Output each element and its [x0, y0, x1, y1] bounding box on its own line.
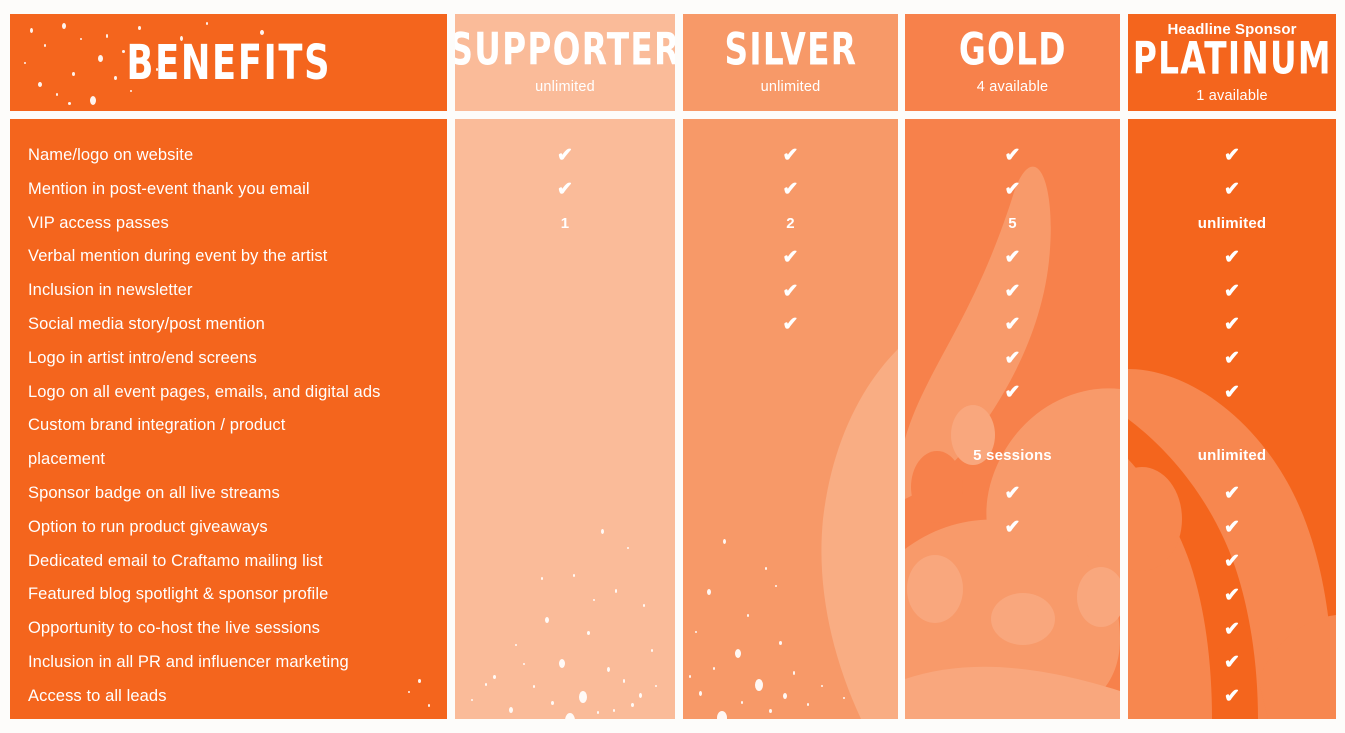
- value-gold-5: ✔: [905, 274, 1120, 308]
- check-icon: ✔: [782, 146, 798, 165]
- value-gold-3: 5: [905, 207, 1120, 241]
- check-icon: ✔: [1004, 146, 1020, 165]
- value-platinum-10: ✔: [1128, 477, 1336, 511]
- value-silver-3: 2: [683, 207, 898, 241]
- value-supporter-15: [455, 646, 675, 680]
- tier-availability-supporter: unlimited: [535, 79, 595, 95]
- sponsorship-tier-table: BENEFITS SUPPORTER unlimited SILVER unli…: [0, 0, 1345, 733]
- value-silver-1: ✔: [683, 139, 898, 173]
- value-gold-11: ✔: [905, 511, 1120, 545]
- value-platinum-14: ✔: [1128, 612, 1336, 646]
- value-platinum-3: unlimited: [1128, 207, 1336, 241]
- check-icon: ✔: [1004, 282, 1020, 301]
- value-silver-4: ✔: [683, 240, 898, 274]
- value-supporter-8: [455, 376, 675, 410]
- tier-name-platinum: PLATINUM: [1133, 37, 1332, 82]
- benefit-row-2: Mention in post-event thank you email: [28, 173, 447, 207]
- check-icon: ✔: [1224, 620, 1240, 639]
- value-platinum-8: ✔: [1128, 376, 1336, 410]
- benefit-row-6: Social media story/post mention: [28, 308, 447, 342]
- benefit-row-7: Logo in artist intro/end screens: [28, 342, 447, 376]
- check-icon: ✔: [1224, 552, 1240, 571]
- value-platinum-4: ✔: [1128, 240, 1336, 274]
- tier-column-platinum: ✔ ✔ unlimited ✔ ✔ ✔ ✔ ✔ unlimited ✔ ✔ ✔ …: [1128, 119, 1336, 719]
- value-platinum-5: ✔: [1128, 274, 1336, 308]
- benefit-row-9: Custom brand integration / product place…: [28, 409, 358, 477]
- check-icon: ✔: [1004, 518, 1020, 537]
- benefit-row-5: Inclusion in newsletter: [28, 274, 447, 308]
- value-platinum-1: ✔: [1128, 139, 1336, 173]
- value-gold-2: ✔: [905, 173, 1120, 207]
- value-platinum-16: ✔: [1128, 680, 1336, 714]
- value-supporter-2: ✔: [455, 173, 675, 207]
- value-platinum-12: ✔: [1128, 545, 1336, 579]
- value-supporter-13: [455, 578, 675, 612]
- value-gold-14: [905, 612, 1120, 646]
- check-icon: ✔: [1004, 248, 1020, 267]
- benefit-row-8: Logo on all event pages, emails, and dig…: [28, 376, 447, 410]
- tier-column-silver: ✔ ✔ 2 ✔ ✔ ✔: [683, 119, 898, 719]
- check-icon: ✔: [557, 180, 573, 199]
- check-icon: ✔: [1224, 383, 1240, 402]
- value-supporter-14: [455, 612, 675, 646]
- value-gold-4: ✔: [905, 240, 1120, 274]
- value-platinum-6: ✔: [1128, 308, 1336, 342]
- value-platinum-13: ✔: [1128, 578, 1336, 612]
- value-silver-6: ✔: [683, 308, 898, 342]
- value-supporter-11: [455, 511, 675, 545]
- value-gold-1: ✔: [905, 139, 1120, 173]
- value-silver-8: [683, 376, 898, 410]
- value-gold-13: [905, 578, 1120, 612]
- value-gold-10: ✔: [905, 477, 1120, 511]
- check-icon: ✔: [1224, 484, 1240, 503]
- check-icon: ✔: [557, 146, 573, 165]
- check-icon: ✔: [782, 180, 798, 199]
- benefits-header-panel: BENEFITS: [10, 14, 447, 111]
- tier-name-silver: SILVER: [724, 28, 857, 73]
- tier-header-silver[interactable]: SILVER unlimited: [683, 14, 898, 111]
- benefit-row-10: Sponsor badge on all live streams: [28, 477, 447, 511]
- check-icon: ✔: [1224, 687, 1240, 706]
- value-gold-7: ✔: [905, 342, 1120, 376]
- values-silver: ✔ ✔ 2 ✔ ✔ ✔: [683, 119, 898, 719]
- benefit-row-3: VIP access passes: [28, 207, 447, 241]
- value-platinum-15: ✔: [1128, 646, 1336, 680]
- benefit-row-14: Opportunity to co-host the live sessions: [28, 612, 447, 646]
- check-icon: ✔: [1224, 315, 1240, 334]
- tier-header-platinum[interactable]: Headline Sponsor PLATINUM 1 available: [1128, 14, 1336, 111]
- check-icon: ✔: [1004, 315, 1020, 334]
- value-silver-9: [683, 409, 898, 477]
- value-silver-10: [683, 477, 898, 511]
- value-supporter-4: [455, 240, 675, 274]
- value-supporter-16: [455, 680, 675, 714]
- value-supporter-12: [455, 545, 675, 579]
- check-icon: ✔: [1224, 349, 1240, 368]
- value-platinum-7: ✔: [1128, 342, 1336, 376]
- value-silver-12: [683, 545, 898, 579]
- tier-header-supporter[interactable]: SUPPORTER unlimited: [455, 14, 675, 111]
- benefit-row-4: Verbal mention during event by the artis…: [28, 240, 447, 274]
- value-gold-9: 5 sessions: [905, 409, 1120, 477]
- value-gold-16: [905, 680, 1120, 714]
- tier-name-supporter: SUPPORTER: [455, 28, 675, 73]
- value-silver-16: [683, 680, 898, 714]
- benefit-list: Name/logo on website Mention in post-eve…: [28, 139, 447, 714]
- benefit-row-12: Dedicated email to Craftamo mailing list: [28, 545, 447, 579]
- values-supporter: ✔ ✔ 1: [455, 119, 675, 719]
- value-supporter-6: [455, 308, 675, 342]
- value-supporter-7: [455, 342, 675, 376]
- values-platinum: ✔ ✔ unlimited ✔ ✔ ✔ ✔ ✔ unlimited ✔ ✔ ✔ …: [1128, 119, 1336, 719]
- check-icon: ✔: [782, 248, 798, 267]
- value-silver-15: [683, 646, 898, 680]
- check-icon: ✔: [1224, 586, 1240, 605]
- value-silver-13: [683, 578, 898, 612]
- benefit-row-13: Featured blog spotlight & sponsor profil…: [28, 578, 447, 612]
- tier-availability-platinum: 1 available: [1196, 88, 1268, 104]
- check-icon: ✔: [1004, 383, 1020, 402]
- check-icon: ✔: [1224, 518, 1240, 537]
- value-platinum-9: unlimited: [1128, 409, 1336, 477]
- tier-column-supporter: ✔ ✔ 1: [455, 119, 675, 719]
- check-icon: ✔: [1004, 180, 1020, 199]
- value-gold-6: ✔: [905, 308, 1120, 342]
- check-icon: ✔: [1004, 484, 1020, 503]
- benefit-row-1: Name/logo on website: [28, 139, 447, 173]
- check-icon: ✔: [782, 282, 798, 301]
- value-supporter-5: [455, 274, 675, 308]
- value-platinum-2: ✔: [1128, 173, 1336, 207]
- tier-availability-gold: 4 available: [977, 79, 1049, 95]
- tier-availability-silver: unlimited: [761, 79, 821, 95]
- check-icon: ✔: [1224, 248, 1240, 267]
- value-supporter-3: 1: [455, 207, 675, 241]
- value-gold-15: [905, 646, 1120, 680]
- values-gold: ✔ ✔ 5 ✔ ✔ ✔ ✔ ✔ 5 sessions ✔ ✔: [905, 119, 1120, 719]
- check-icon: ✔: [1224, 282, 1240, 301]
- value-supporter-9: [455, 409, 675, 477]
- value-silver-14: [683, 612, 898, 646]
- value-gold-12: [905, 545, 1120, 579]
- page-title: BENEFITS: [126, 35, 331, 91]
- value-silver-5: ✔: [683, 274, 898, 308]
- value-gold-8: ✔: [905, 376, 1120, 410]
- tier-header-gold[interactable]: GOLD 4 available: [905, 14, 1120, 111]
- tier-name-gold: GOLD: [959, 28, 1067, 73]
- value-supporter-10: [455, 477, 675, 511]
- check-icon: ✔: [1224, 146, 1240, 165]
- benefit-row-15: Inclusion in all PR and influencer marke…: [28, 646, 447, 680]
- benefits-list-panel: Name/logo on website Mention in post-eve…: [10, 119, 447, 719]
- value-supporter-1: ✔: [455, 139, 675, 173]
- check-icon: ✔: [782, 315, 798, 334]
- value-silver-11: [683, 511, 898, 545]
- check-icon: ✔: [1004, 349, 1020, 368]
- tier-column-gold: ✔ ✔ 5 ✔ ✔ ✔ ✔ ✔ 5 sessions ✔ ✔: [905, 119, 1120, 719]
- value-silver-7: [683, 342, 898, 376]
- value-platinum-11: ✔: [1128, 511, 1336, 545]
- check-icon: ✔: [1224, 180, 1240, 199]
- benefit-row-11: Option to run product giveaways: [28, 511, 447, 545]
- check-icon: ✔: [1224, 653, 1240, 672]
- value-silver-2: ✔: [683, 173, 898, 207]
- benefit-row-16: Access to all leads: [28, 680, 447, 714]
